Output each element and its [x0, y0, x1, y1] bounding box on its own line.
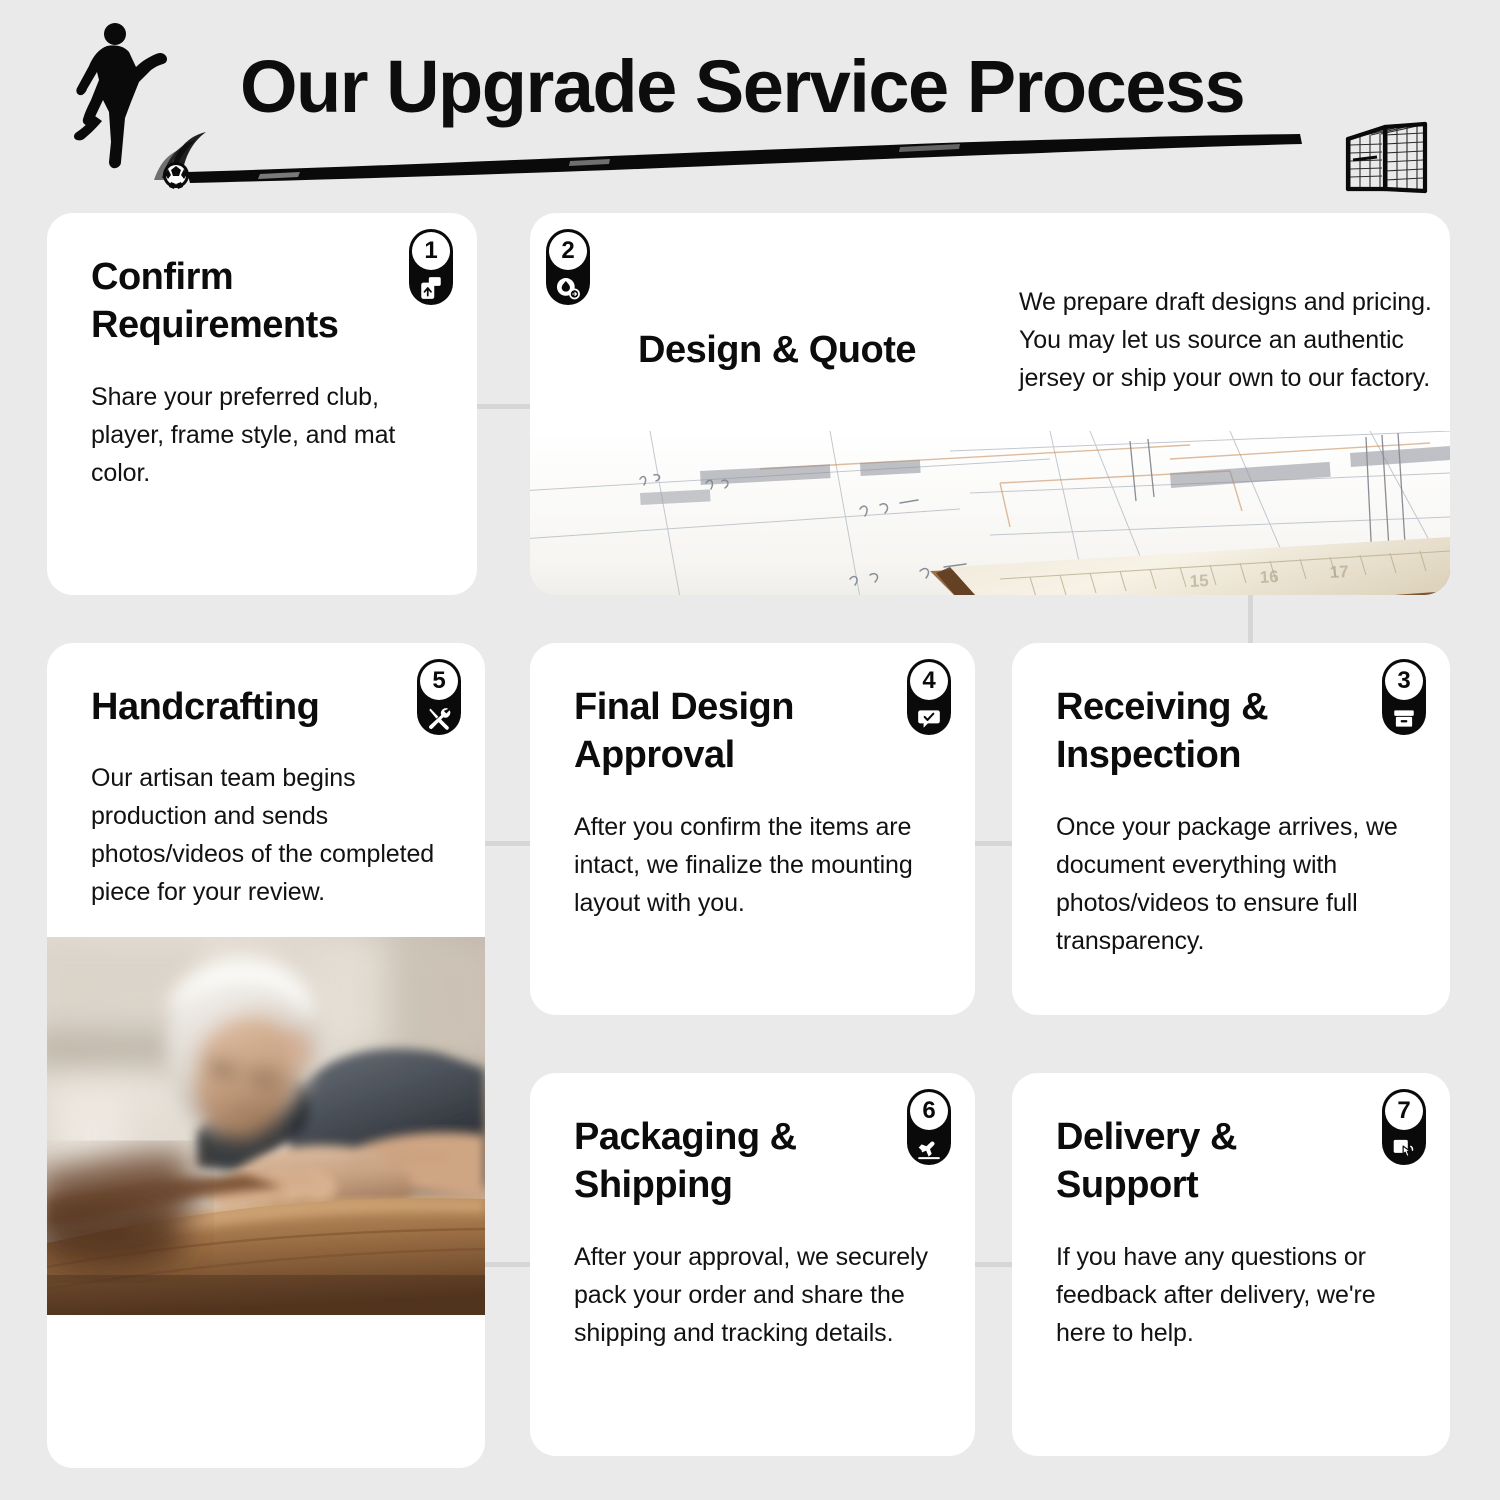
chat-check-icon — [915, 704, 943, 732]
step-card-2[interactable]: 2 Design & Quote We prepare draft design… — [530, 213, 1450, 595]
badge-number: 7 — [1385, 1092, 1423, 1130]
badge-number: 3 — [1385, 662, 1423, 700]
package-box-icon — [1390, 704, 1418, 732]
connector-3-4 — [974, 841, 1014, 846]
infographic-page: Our Upgrade Service Process — [0, 0, 1500, 1500]
step-card-1[interactable]: 1 Confirm Requirements Share your prefer… — [47, 213, 477, 595]
card-title: Receiving & Inspection — [1056, 683, 1329, 780]
badge-number: 2 — [549, 232, 587, 270]
card-body: 1 Confirm Requirements Share your prefer… — [47, 213, 477, 526]
badge-number: 1 — [412, 232, 450, 270]
card-title: Design & Quote — [638, 326, 916, 374]
connector-4-5 — [485, 841, 532, 846]
card-body: 5 Handcrafting Our artisan team begins p… — [47, 643, 485, 937]
card-description: If you have any questions or feedback af… — [1056, 1238, 1406, 1352]
card-header-row: 2 Design & Quote We prepare draft design… — [574, 253, 1406, 413]
badge-number: 6 — [910, 1092, 948, 1130]
step-badge-2: 2 — [546, 229, 590, 305]
card-description: Once your package arrives, we document e… — [1056, 808, 1406, 960]
card-title: Packaging & Shipping — [574, 1113, 852, 1210]
step-card-5[interactable]: 5 Handcrafting Our artisan team begins p… — [47, 643, 485, 1468]
badge-number: 4 — [910, 662, 948, 700]
card-title: Final Design Approval — [574, 683, 852, 780]
card-body: 6 Packaging & Shipping After your approv… — [530, 1073, 975, 1386]
card-body: 3 Receiving & Inspection Once your packa… — [1012, 643, 1450, 994]
card-description: Our artisan team begins production and s… — [91, 759, 441, 911]
card-body: 7 Delivery & Support If you have any que… — [1012, 1073, 1450, 1386]
craftsman-inspecting-wood-photo — [47, 937, 485, 1315]
connector-6-7 — [974, 1262, 1014, 1267]
card-description: Share your preferred club, player, frame… — [91, 378, 433, 492]
connector-2-3 — [1248, 595, 1253, 645]
card-title: Delivery & Support — [1056, 1113, 1329, 1210]
step-badge-5: 5 — [417, 659, 461, 735]
step-card-6[interactable]: 6 Packaging & Shipping After your approv… — [530, 1073, 975, 1456]
hand-pointer-click-icon — [1390, 1134, 1418, 1162]
step-badge-6: 6 — [907, 1089, 951, 1165]
card-body: 4 Final Design Approval After you confir… — [530, 643, 975, 956]
connector-5-6 — [485, 1262, 532, 1267]
badge-number: 5 — [420, 662, 458, 700]
step-badge-3: 3 — [1382, 659, 1426, 735]
step-card-4[interactable]: 4 Final Design Approval After you confir… — [530, 643, 975, 1015]
design-palette-icon — [554, 274, 582, 302]
plane-departure-icon — [915, 1134, 943, 1162]
step-card-7[interactable]: 7 Delivery & Support If you have any que… — [1012, 1073, 1450, 1456]
step-badge-4: 4 — [907, 659, 951, 735]
card-description: After your approval, we securely pack yo… — [574, 1238, 931, 1352]
card-description: After you confirm the items are intact, … — [574, 808, 931, 922]
tools-wrench-screwdriver-icon — [425, 704, 453, 732]
svg-text:17: 17 — [1329, 562, 1349, 582]
connector-1-2 — [477, 404, 532, 409]
step-badge-7: 7 — [1382, 1089, 1426, 1165]
card-body: 2 Design & Quote We prepare draft design… — [530, 213, 1450, 431]
card-title: Confirm Requirements — [91, 253, 358, 350]
step-card-3[interactable]: 3 Receiving & Inspection Once your packa… — [1012, 643, 1450, 1015]
card-description: We prepare draft designs and pricing. Yo… — [1019, 283, 1450, 397]
svg-text:16: 16 — [1259, 567, 1279, 587]
document-upload-icon — [417, 274, 445, 302]
step-badge-1: 1 — [409, 229, 453, 305]
card-title: Handcrafting — [91, 683, 364, 731]
blueprint-drawings-with-ruler-photo: 15 16 17 — [530, 431, 1450, 595]
svg-text:15: 15 — [1189, 571, 1209, 591]
